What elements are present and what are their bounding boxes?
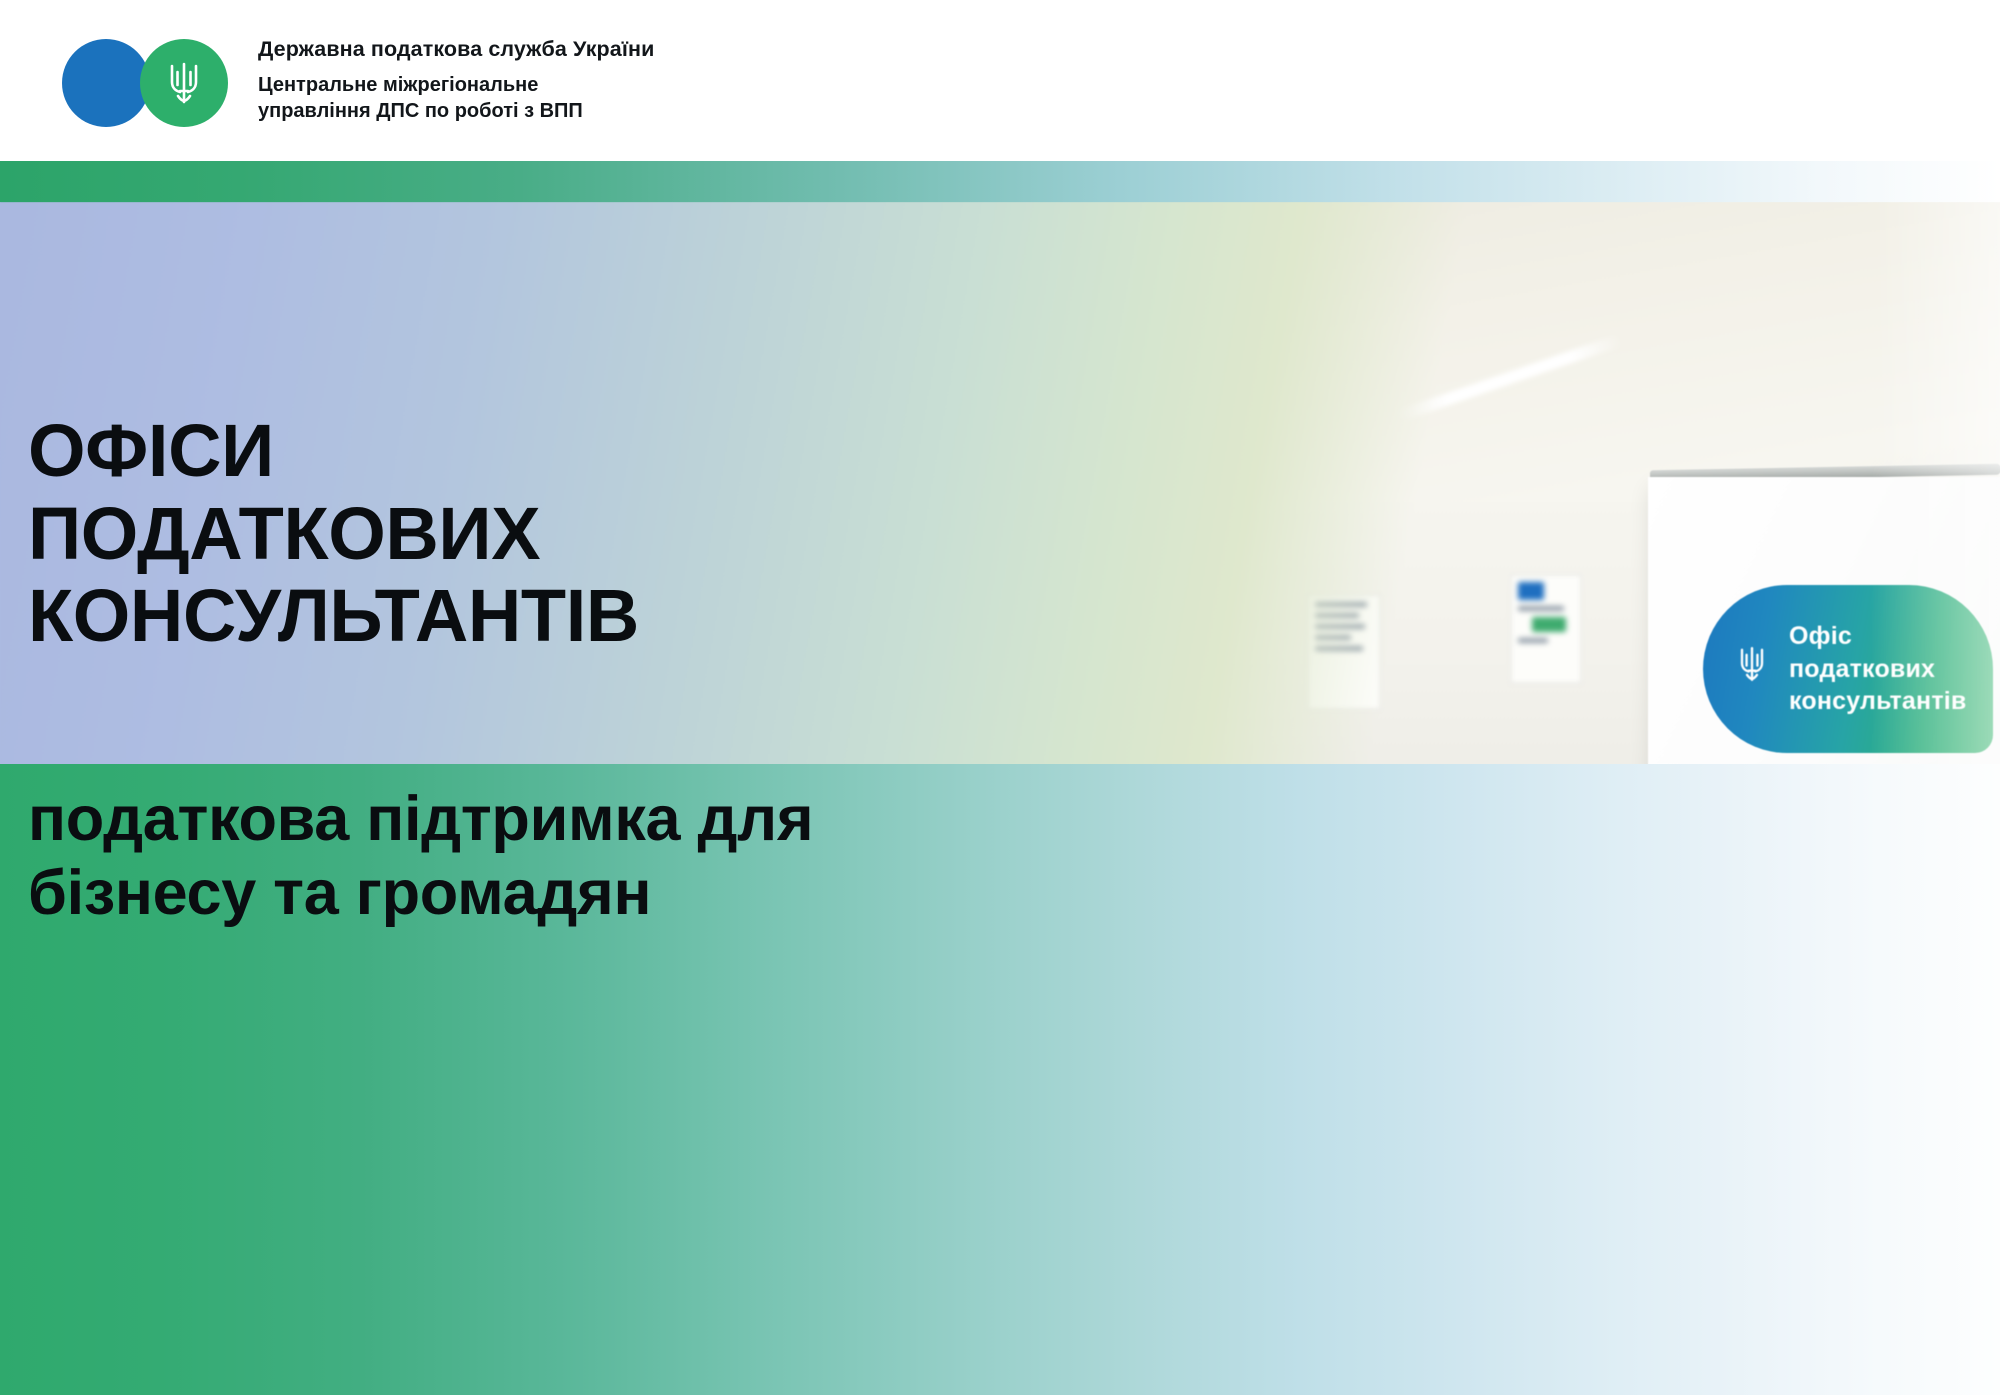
- site-header: Державна податкова служба України Центра…: [0, 0, 2000, 161]
- logo-blue-circle-icon: [62, 39, 150, 127]
- org-name-secondary-line-2: управління ДПС по роботі з ВПП: [258, 98, 654, 124]
- headline-line-3: КОНСУЛЬТАНТІВ: [28, 575, 639, 658]
- hero-right-fade: [1870, 202, 2000, 764]
- accent-gradient-stripe: [0, 161, 2000, 202]
- ukraine-trident-icon: [166, 58, 202, 108]
- subhead-line-1: податкова підтримка для: [28, 782, 813, 856]
- header-text-block: Державна податкова служба України Центра…: [258, 36, 654, 124]
- headline-line-1: ОФІСИ: [28, 410, 639, 493]
- subhead-line-2: бізнесу та громадян: [28, 856, 813, 930]
- poster-page: Державна податкова служба України Центра…: [0, 0, 2000, 1395]
- page-subtitle: податкова підтримка для бізнесу та грома…: [28, 782, 813, 931]
- dps-logo[interactable]: [62, 39, 234, 127]
- headline-line-2: ПОДАТКОВИХ: [28, 493, 639, 576]
- logo-green-circle-icon: [140, 39, 228, 127]
- page-title: ОФІСИ ПОДАТКОВИХ КОНСУЛЬТАНТІВ: [28, 410, 639, 658]
- org-name-secondary-line-1: Центральне міжрегіональне: [258, 72, 654, 98]
- org-name-primary: Державна податкова служба України: [258, 36, 654, 63]
